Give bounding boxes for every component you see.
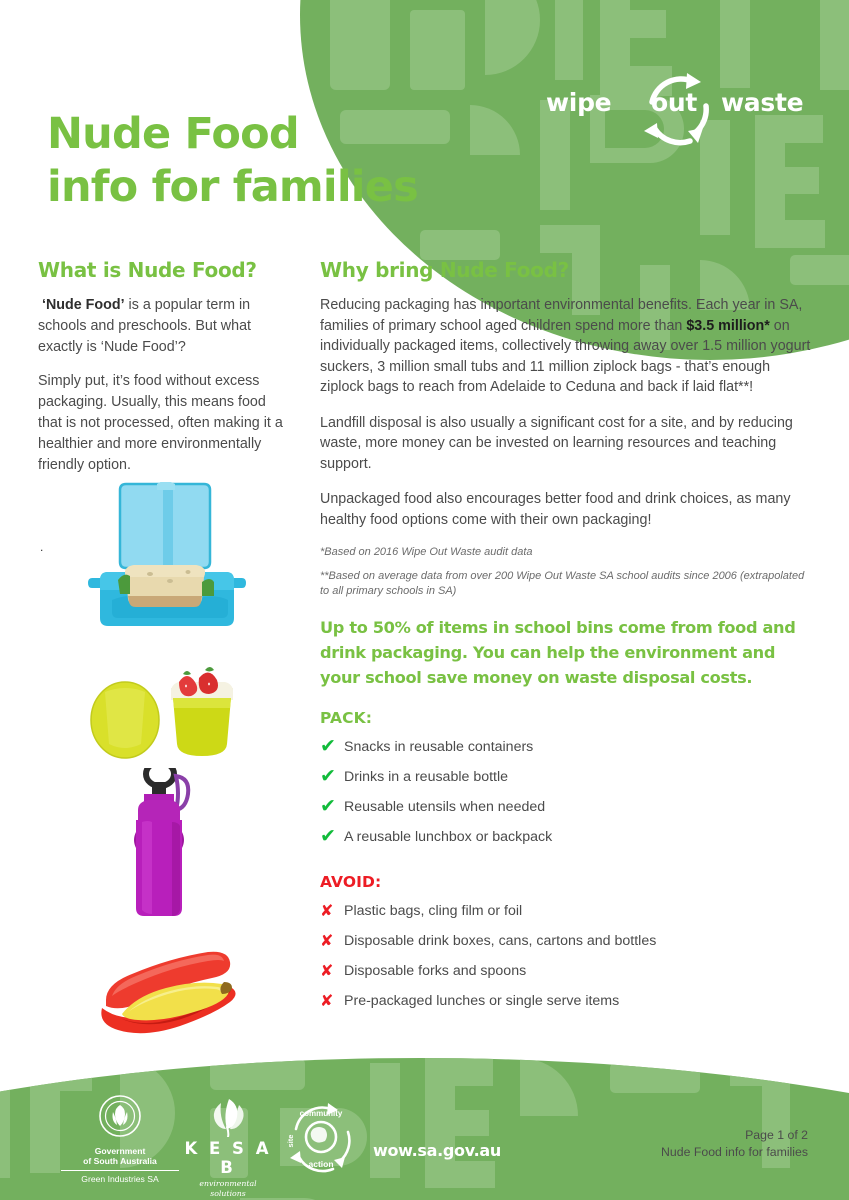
page-title-line-1: Nude Food bbox=[47, 108, 507, 161]
kesab-leaf-icon bbox=[205, 1097, 251, 1137]
footnote-1: *Based on 2016 Wipe Out Waste audit data bbox=[320, 545, 815, 560]
page-meta: Page 1 of 2 Nude Food info for families bbox=[661, 1127, 808, 1161]
left-paragraph-1: ‘Nude Food’ is a popular term in schools… bbox=[38, 295, 293, 358]
svg-text:action: action bbox=[308, 1159, 333, 1169]
right-column-heading: Why bring Nude Food? bbox=[320, 258, 815, 282]
left-column-heading: What is Nude Food? bbox=[38, 258, 293, 282]
kesab-logo-sub-2: solutions bbox=[173, 1189, 283, 1199]
site-community-action-logo: community site action bbox=[283, 1099, 363, 1182]
snack-tub-photo bbox=[38, 658, 293, 768]
avoid-list-heading: AVOID: bbox=[320, 873, 815, 891]
cost-figure-bold: $3.5 million* bbox=[686, 318, 769, 334]
document-name: Nude Food info for families bbox=[661, 1144, 808, 1161]
avoid-item-label: Disposable forks and spoons bbox=[344, 962, 526, 980]
banana-case-photo bbox=[38, 938, 293, 1048]
logo-word-waste: waste bbox=[721, 88, 803, 117]
avoid-item-label: Pre-packaged lunches or single serve ite… bbox=[344, 992, 619, 1010]
right-column: Why bring Nude Food? Reducing packaging … bbox=[320, 258, 815, 1022]
check-icon: ✔ bbox=[320, 828, 344, 845]
logo-word-wipe: wipe bbox=[546, 88, 611, 117]
pack-item-label: Snacks in reusable containers bbox=[344, 738, 533, 756]
drink-bottle-photo bbox=[38, 768, 293, 923]
south-australia-crest-icon bbox=[99, 1095, 141, 1137]
pack-list-heading: PACK: bbox=[320, 709, 815, 727]
pack-item-label: Drinks in a reusable bottle bbox=[344, 768, 508, 786]
check-icon: ✔ bbox=[320, 798, 344, 815]
list-item: ✘ Disposable drink boxes, cans, cartons … bbox=[320, 932, 815, 950]
page-title-line-2: info for families bbox=[47, 161, 507, 214]
gov-logo-line-2: of South Australia bbox=[55, 1156, 185, 1166]
kesab-logo-sub-1: environmental bbox=[173, 1179, 283, 1189]
gov-logo-line-1: Government bbox=[55, 1146, 185, 1156]
cross-icon: ✘ bbox=[320, 932, 344, 949]
list-item: ✔ Snacks in reusable containers bbox=[320, 738, 815, 756]
avoid-item-label: Plastic bags, cling film or foil bbox=[344, 902, 522, 920]
list-item: ✘ Pre-packaged lunches or single serve i… bbox=[320, 992, 815, 1010]
right-paragraph-3: Unpackaged food also encourages better f… bbox=[320, 489, 815, 530]
lunchbox-photo bbox=[38, 482, 293, 627]
gov-logo-line-3: Green Industries SA bbox=[55, 1174, 185, 1185]
nude-food-bold-lead: ‘Nude Food’ bbox=[42, 297, 125, 313]
pack-item-label: Reusable utensils when needed bbox=[344, 798, 545, 816]
svg-text:site: site bbox=[286, 1135, 295, 1148]
check-icon: ✔ bbox=[320, 768, 344, 785]
right-paragraph-1: Reducing packaging has important environ… bbox=[320, 295, 815, 398]
footer-logos: Government of South Australia Green Indu… bbox=[55, 1095, 475, 1185]
list-item: ✔ Reusable utensils when needed bbox=[320, 798, 815, 816]
kesab-logo: K E S A B environmental solutions bbox=[173, 1097, 283, 1198]
list-item: ✔ Drinks in a reusable bottle bbox=[320, 768, 815, 786]
left-column: What is Nude Food? ‘Nude Food’ is a popu… bbox=[38, 258, 293, 489]
list-item: ✘ Disposable forks and spoons bbox=[320, 962, 815, 980]
list-item: ✘ Plastic bags, cling film or foil bbox=[320, 902, 815, 920]
left-paragraph-2: Simply put, it’s food without excess pac… bbox=[38, 371, 293, 476]
cross-icon: ✘ bbox=[320, 902, 344, 919]
kesab-logo-name: K E S A B bbox=[173, 1139, 283, 1177]
avoid-item-label: Disposable drink boxes, cans, cartons an… bbox=[344, 932, 656, 950]
footnote-2: **Based on average data from over 200 Wi… bbox=[320, 569, 815, 599]
right-paragraph-2: Landfill disposal is also usually a sign… bbox=[320, 413, 815, 475]
list-item: ✔ A reusable lunchbox or backpack bbox=[320, 828, 815, 846]
page-number: Page 1 of 2 bbox=[661, 1127, 808, 1144]
cross-icon: ✘ bbox=[320, 962, 344, 979]
svg-text:community: community bbox=[300, 1109, 343, 1118]
logo-word-out: out bbox=[651, 88, 697, 117]
page-title: Nude Food info for families bbox=[47, 108, 507, 214]
callout-statistic: Up to 50% of items in school bins come f… bbox=[320, 615, 815, 690]
check-icon: ✔ bbox=[320, 738, 344, 755]
poster-page: wipe out waste Nude Food info for famili… bbox=[0, 0, 849, 1200]
pack-item-label: A reusable lunchbox or backpack bbox=[344, 828, 552, 846]
cross-icon: ✘ bbox=[320, 992, 344, 1009]
website-url[interactable]: wow.sa.gov.au bbox=[373, 1141, 501, 1160]
gov-logo-divider bbox=[61, 1170, 179, 1171]
wipe-out-waste-logo: wipe out waste bbox=[546, 60, 816, 140]
government-sa-logo: Government of South Australia Green Indu… bbox=[55, 1095, 185, 1185]
